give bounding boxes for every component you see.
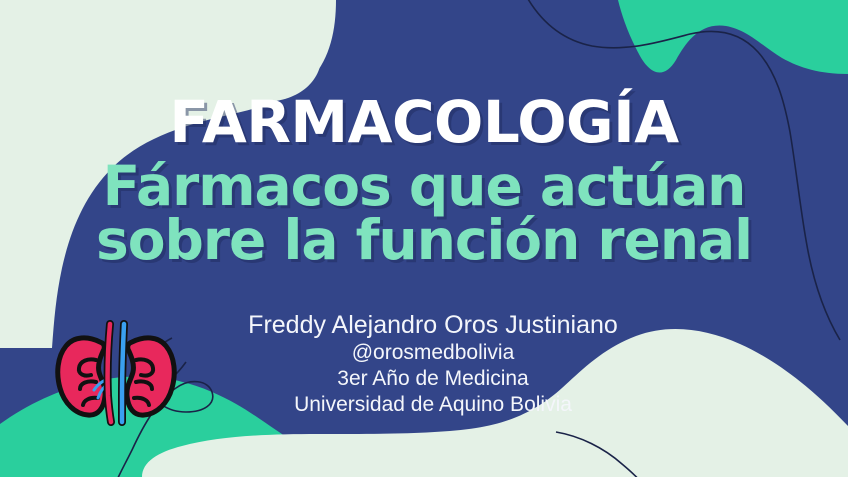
title-slide: FARMACOLOGÍA Fármacos que actúan sobre l… bbox=[0, 0, 848, 477]
author-university: Universidad de Aquino Bolivia bbox=[168, 392, 698, 418]
title-block: FARMACOLOGÍA Fármacos que actúan sobre l… bbox=[0, 92, 848, 266]
author-block: Freddy Alejandro Oros Justiniano @orosme… bbox=[168, 310, 698, 418]
renal-vein-fill bbox=[122, 324, 124, 422]
subtitle-line-1: Fármacos que actúan bbox=[0, 160, 848, 212]
kidneys-illustration bbox=[52, 316, 180, 428]
page-title: FARMACOLOGÍA bbox=[0, 92, 848, 152]
author-name: Freddy Alejandro Oros Justiniano bbox=[168, 310, 698, 340]
subtitle-line-2: sobre la función renal bbox=[0, 214, 848, 266]
top-left-blob-lobe bbox=[206, 0, 322, 102]
author-social-handle: @orosmedbolivia bbox=[168, 340, 698, 366]
author-academic-year: 3er Año de Medicina bbox=[168, 366, 698, 392]
